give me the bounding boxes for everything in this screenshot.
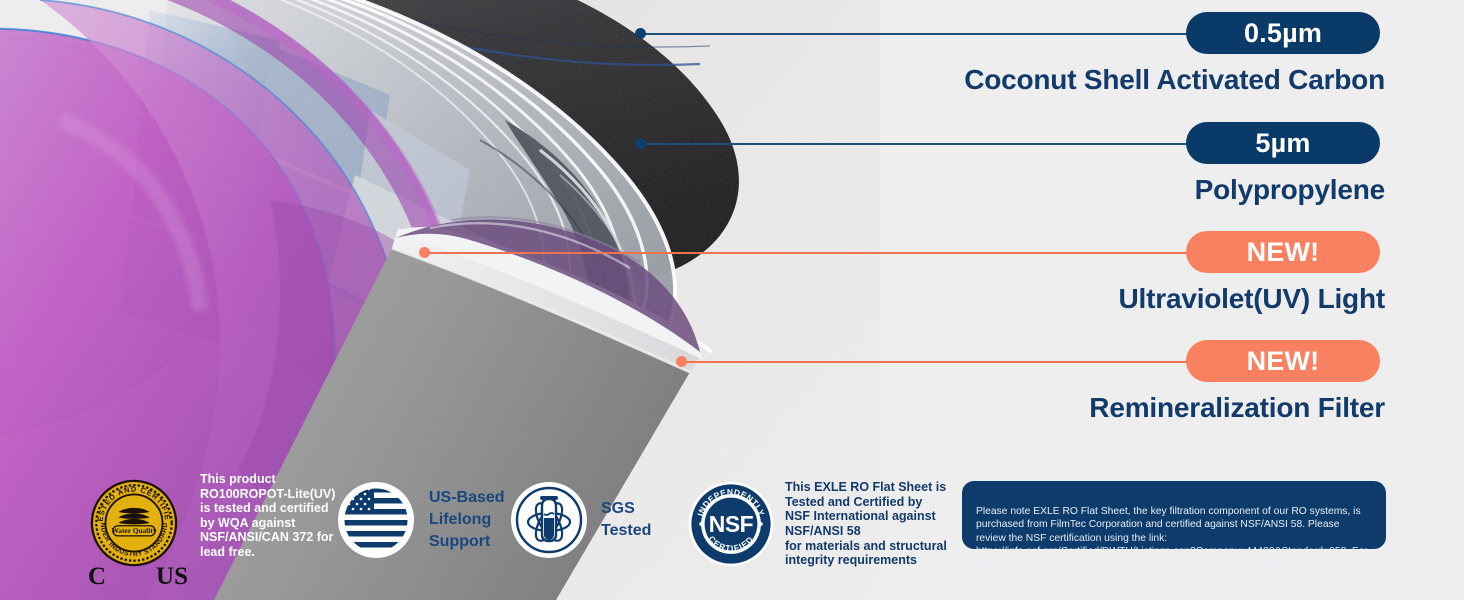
connector-dot-1 (635, 28, 646, 39)
wqa-mark-c: C (88, 563, 106, 591)
us-support-text: US-Based Lifelong Support (429, 487, 505, 553)
us-flag-icon (340, 484, 412, 556)
nsf-note-text: Please note EXLE RO Flat Sheet, the key … (976, 506, 1368, 570)
connector-line-3 (425, 252, 1190, 254)
svg-text:Water Quality: Water Quality (111, 526, 156, 535)
nsf-note-box: Please note EXLE RO Flat Sheet, the key … (962, 481, 1386, 549)
layer-badge-2[interactable]: 5µm (1186, 122, 1380, 164)
layer-badge-4[interactable]: NEW! (1186, 340, 1380, 382)
infographic-canvas: 0.5µm Coconut Shell Activated Carbon 5µm… (0, 0, 1464, 600)
layer-label-2: Polypropylene (1195, 174, 1385, 206)
connector-dot-2 (635, 138, 646, 149)
cert-us-support: US-Based Lifelong Support (340, 484, 505, 556)
cert-wqa: TESTED AND CERTIFIED UNDER INDUSTRY STAN… (88, 472, 335, 574)
layer-badge-1-text: 0.5µm (1244, 18, 1322, 49)
layer-label-1: Coconut Shell Activated Carbon (964, 64, 1385, 96)
nsf-seal-icon: INDEPENDENTLY CERTIFIED NSF (687, 480, 775, 568)
svg-text:NSF: NSF (709, 511, 754, 537)
wqa-seal-icon: TESTED AND CERTIFIED UNDER INDUSTRY STAN… (88, 477, 180, 569)
connector-line-2 (641, 143, 1190, 145)
wqa-cus-marks: C US (88, 563, 188, 591)
connector-line-4 (682, 361, 1190, 363)
layer-badge-3[interactable]: NEW! (1186, 231, 1380, 273)
layer-badge-3-text: NEW! (1247, 237, 1320, 268)
layer-label-3: Ultraviolet(UV) Light (1119, 283, 1385, 315)
layer-badge-1[interactable]: 0.5µm (1186, 12, 1380, 54)
wqa-text: This product RO100ROPOT-Lite(UV) is test… (200, 472, 335, 560)
cert-nsf: INDEPENDENTLY CERTIFIED NSF This EXLE RO… (687, 480, 947, 568)
connector-dot-3 (419, 247, 430, 258)
cert-sgs: SGS Tested (513, 484, 651, 556)
layer-label-4: Remineralization Filter (1089, 392, 1385, 424)
nsf-text: This EXLE RO Flat Sheet is Tested and Ce… (785, 480, 947, 568)
atom-test-tube-icon (513, 484, 585, 556)
layer-badge-4-text: NEW! (1247, 346, 1320, 377)
layer-badge-2-text: 5µm (1255, 128, 1310, 159)
connector-line-1 (641, 33, 1190, 35)
sgs-text: SGS Tested (601, 498, 651, 542)
connector-dot-4 (676, 356, 687, 367)
wqa-mark-us: US (156, 563, 188, 591)
